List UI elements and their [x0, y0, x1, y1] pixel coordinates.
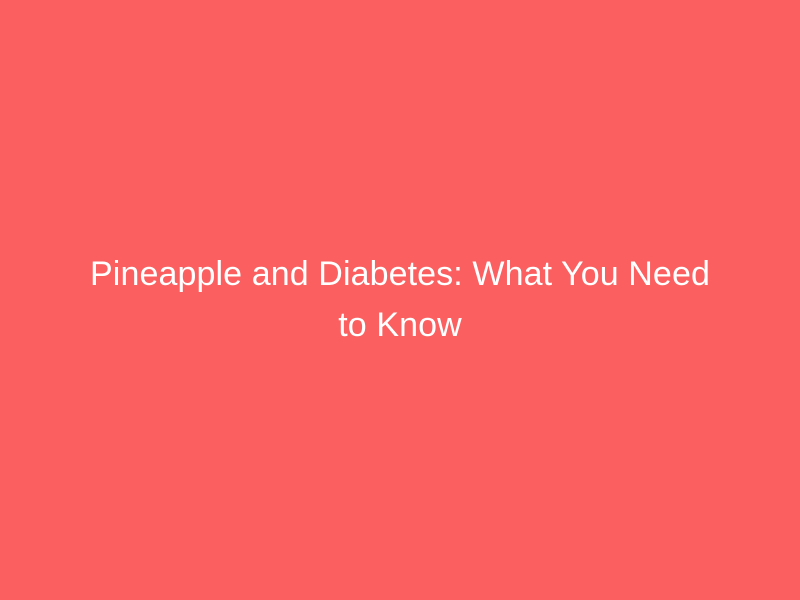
article-title: Pineapple and Diabetes: What You Need to… [80, 249, 720, 351]
article-hero-placeholder-card[interactable]: Pineapple and Diabetes: What You Need to… [0, 0, 800, 600]
hero-title-container: Pineapple and Diabetes: What You Need to… [80, 249, 720, 351]
